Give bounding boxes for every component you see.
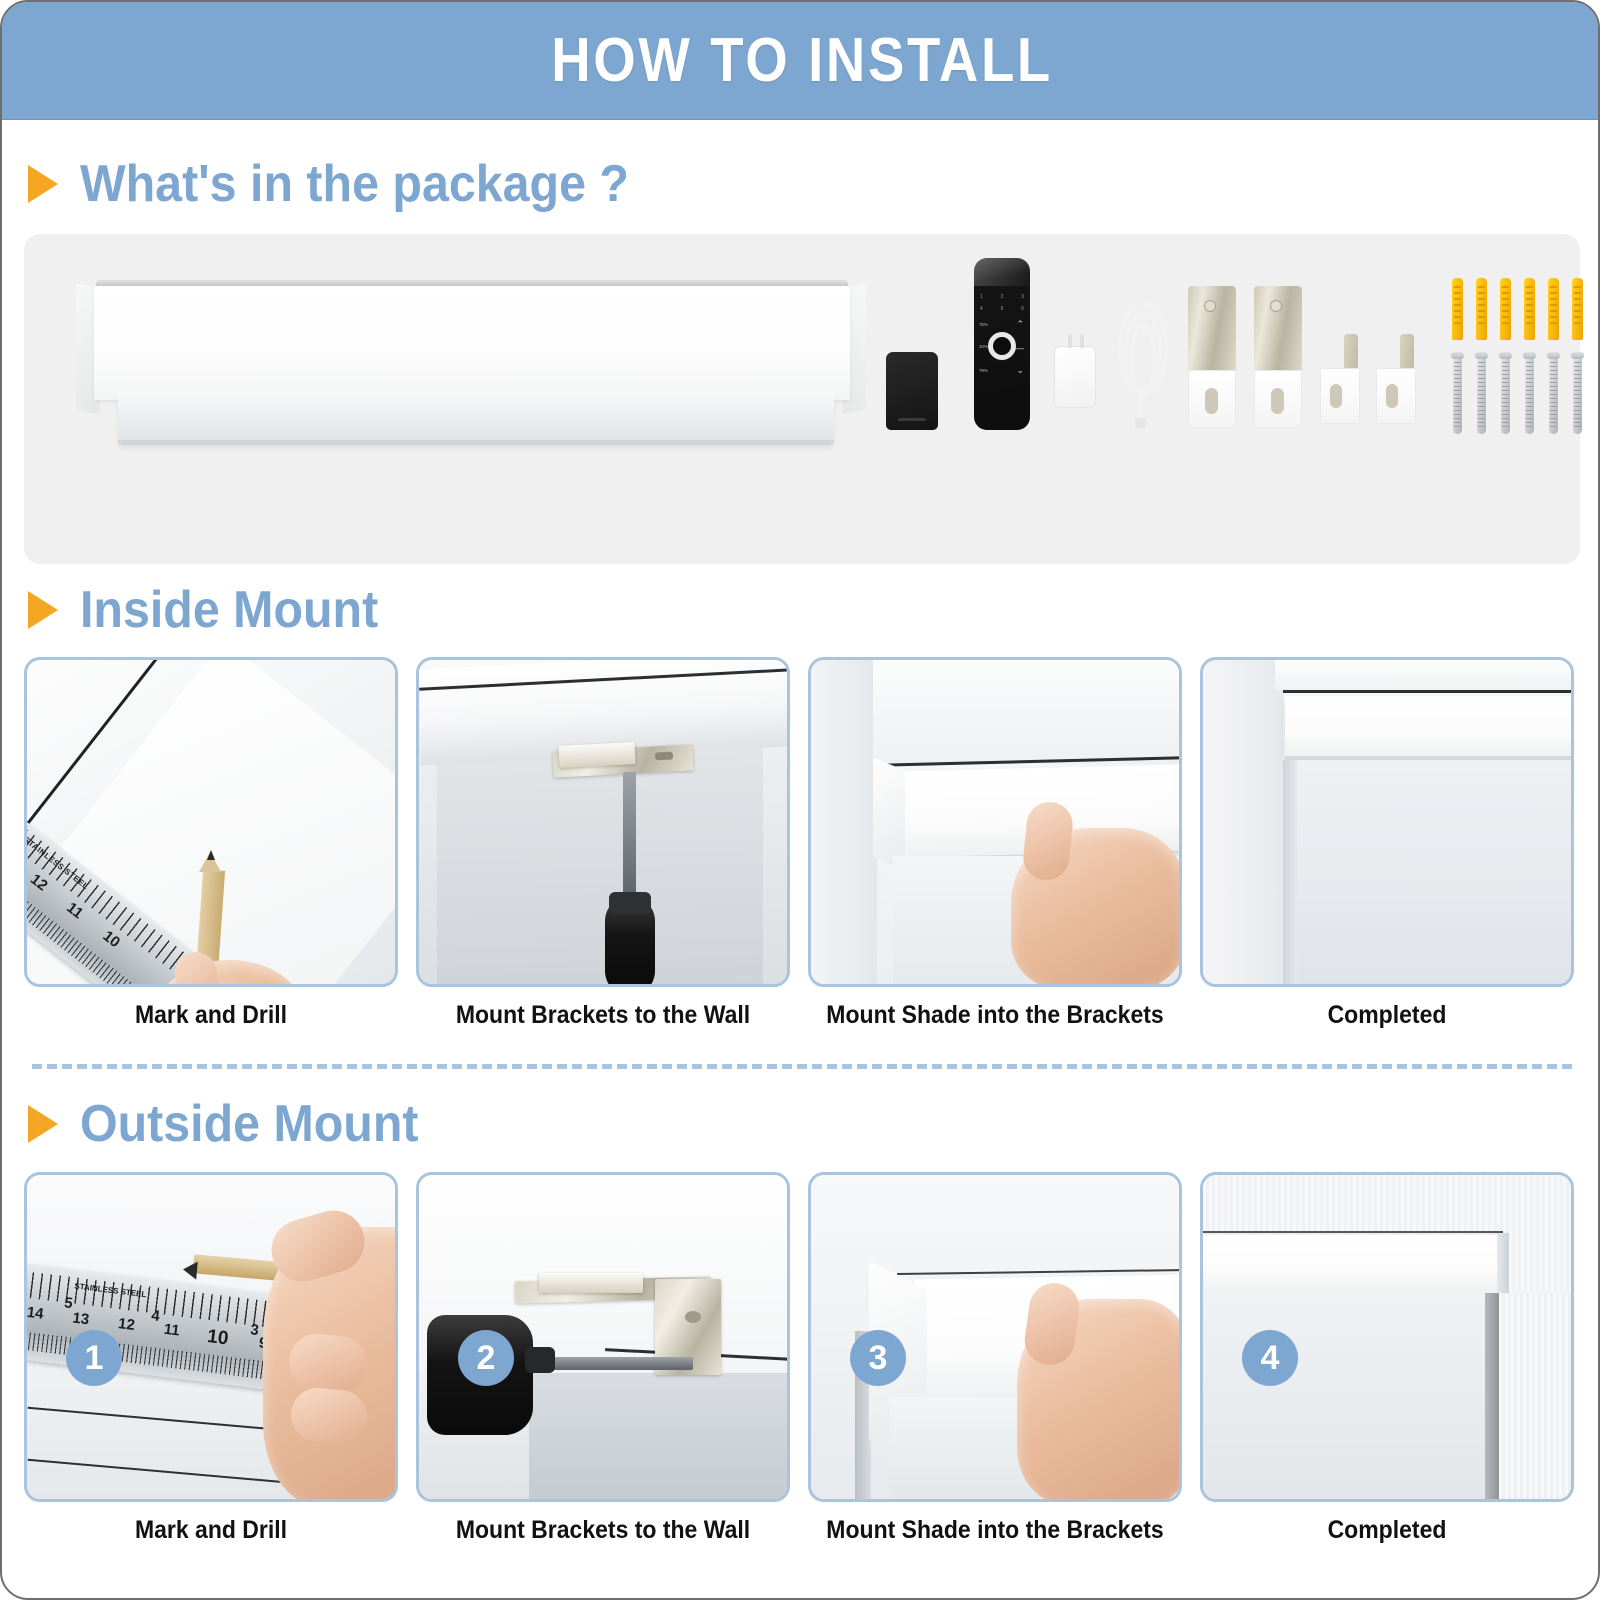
bracket-small-item — [1376, 334, 1416, 426]
wall-anchor-item — [1548, 278, 1559, 340]
step-caption: Mark and Drill — [39, 1516, 383, 1545]
charging-cable-item — [1116, 300, 1172, 424]
step-caption: Mark and Drill — [39, 1001, 383, 1030]
bracket-small-item — [1320, 334, 1360, 426]
step-card: Mount Brackets to the Wall 2 — [416, 657, 790, 1030]
step-caption: Completed — [1215, 1516, 1559, 1545]
infographic-page: HOW TO INSTALL What's in the package ? 1… — [0, 0, 1600, 1600]
wall-anchor-item — [1572, 278, 1583, 340]
triangle-right-icon — [28, 591, 58, 629]
screw-item — [1525, 356, 1534, 434]
step-number-badge: 2 — [458, 1330, 514, 1386]
screw-item — [1453, 356, 1462, 434]
screw-item — [1477, 356, 1486, 434]
step-card: Mount Shade into the Brackets 3 — [808, 657, 1182, 1030]
screw-item — [1549, 356, 1558, 434]
step-photo-ruler-pencil-marking: 15 14 13 12 11 10 STAINLESS STEEL — [24, 657, 398, 987]
step-card: Completed 4 — [1200, 657, 1574, 1030]
outside-mount-steps: 14 13 12 11 10 9 8 STAINLESS STEEL 5 4 3 — [24, 1172, 1580, 1545]
step-photo-hand-pushing-headrail — [808, 657, 1182, 987]
triangle-right-icon — [28, 1105, 58, 1143]
step-caption: Completed — [1215, 1001, 1559, 1030]
step-caption: Mount Brackets to the Wall — [431, 1001, 775, 1030]
wall-anchor-item — [1476, 278, 1487, 340]
triangle-right-icon — [28, 165, 58, 203]
package-contents-panel: 123 456 75% 10% 79% ⌃ — ⌄ — [24, 234, 1580, 564]
screw-item — [1501, 356, 1510, 434]
page-title: HOW TO INSTALL — [551, 25, 1053, 96]
section-title-inside-mount: Inside Mount — [80, 580, 378, 640]
battery-case-item — [886, 352, 938, 430]
step-number-badge: 3 — [850, 1330, 906, 1386]
wall-anchor-item — [1452, 278, 1463, 340]
section-heading-outside-mount: Outside Mount — [28, 1094, 444, 1154]
section-divider — [32, 1064, 1572, 1069]
step-photo-installed-shade-inside — [1200, 657, 1574, 987]
step-number-badge: 4 — [1242, 1330, 1298, 1386]
screw-item — [1573, 356, 1582, 434]
roller-shade-item — [66, 262, 866, 462]
step-caption: Mount Shade into the Brackets — [823, 1516, 1167, 1545]
step-photo-drill-bracket-ceiling — [416, 657, 790, 987]
step-caption: Mount Brackets to the Wall — [431, 1516, 775, 1545]
bracket-large-item — [1188, 286, 1236, 426]
inside-mount-steps: 15 14 13 12 11 10 STAINLESS STEEL Mark a… — [24, 657, 1580, 1030]
up-arrow-icon: ⌃ — [1016, 320, 1024, 329]
section-title-outside-mount: Outside Mount — [80, 1094, 418, 1154]
step-number-badge: 1 — [66, 1330, 122, 1386]
section-heading-inside-mount: Inside Mount — [28, 580, 401, 640]
usb-charger-item — [1054, 346, 1096, 408]
section-title-package: What's in the package ? — [80, 154, 629, 214]
wall-anchor-item — [1500, 278, 1511, 340]
step-caption: Mount Shade into the Brackets — [823, 1001, 1167, 1030]
bracket-large-item — [1254, 286, 1302, 426]
down-arrow-icon: ⌄ — [1016, 366, 1024, 375]
remote-control-item: 123 456 75% 10% 79% ⌃ — ⌄ — [974, 258, 1030, 430]
section-heading-package: What's in the package ? — [28, 154, 670, 214]
page-header: HOW TO INSTALL — [2, 2, 1600, 120]
step-card: 15 14 13 12 11 10 STAINLESS STEEL Mark a… — [24, 657, 398, 1030]
stop-icon: — — [1015, 344, 1024, 353]
wall-anchor-item — [1524, 278, 1535, 340]
